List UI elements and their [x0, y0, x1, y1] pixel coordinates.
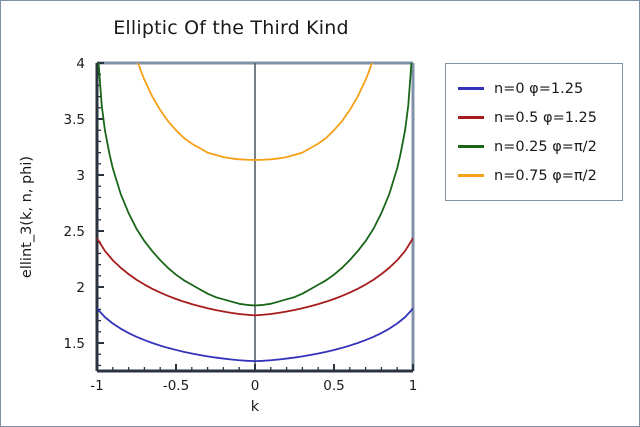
x-tick-label: -0.5 — [163, 378, 189, 394]
legend-item-label: n=0 φ=1.25 — [494, 81, 583, 97]
y-tick-label: 4 — [76, 56, 85, 72]
legend-item[interactable]: n=0.5 φ=1.25 — [446, 103, 622, 132]
legend-color-swatch — [458, 174, 484, 177]
y-tick-label: 2.5 — [64, 224, 85, 240]
legend-color-swatch — [458, 87, 484, 90]
y-tick-label: 2 — [76, 280, 85, 296]
y-tick-label: 3 — [76, 168, 85, 184]
x-tick-label: -1 — [90, 378, 103, 394]
legend-item[interactable]: n=0.75 φ=π/2 — [446, 161, 622, 190]
legend-color-swatch — [458, 116, 484, 119]
legend-item[interactable]: n=0 φ=1.25 — [446, 74, 622, 103]
y-axis-label: ellint_3(k, n, phi) — [19, 156, 35, 278]
legend-item-label: n=0.5 φ=1.25 — [494, 110, 597, 126]
x-tick-label: 1 — [409, 378, 418, 394]
legend-item-label: n=0.75 φ=π/2 — [494, 168, 597, 184]
y-tick-label: 3.5 — [64, 112, 85, 128]
x-tick-label: 0 — [251, 378, 260, 394]
x-axis-label: k — [251, 399, 260, 415]
legend-item[interactable]: n=0.25 φ=π/2 — [446, 132, 622, 161]
chart-window: Elliptic Of the Third Kind -1-0.500.511.… — [0, 0, 640, 427]
legend-color-swatch — [458, 145, 484, 148]
y-tick-label: 1.5 — [64, 336, 85, 352]
legend: n=0 φ=1.25n=0.5 φ=1.25n=0.25 φ=π/2n=0.75… — [445, 63, 623, 201]
x-tick-label: 0.5 — [323, 378, 344, 394]
legend-item-label: n=0.25 φ=π/2 — [494, 139, 597, 155]
